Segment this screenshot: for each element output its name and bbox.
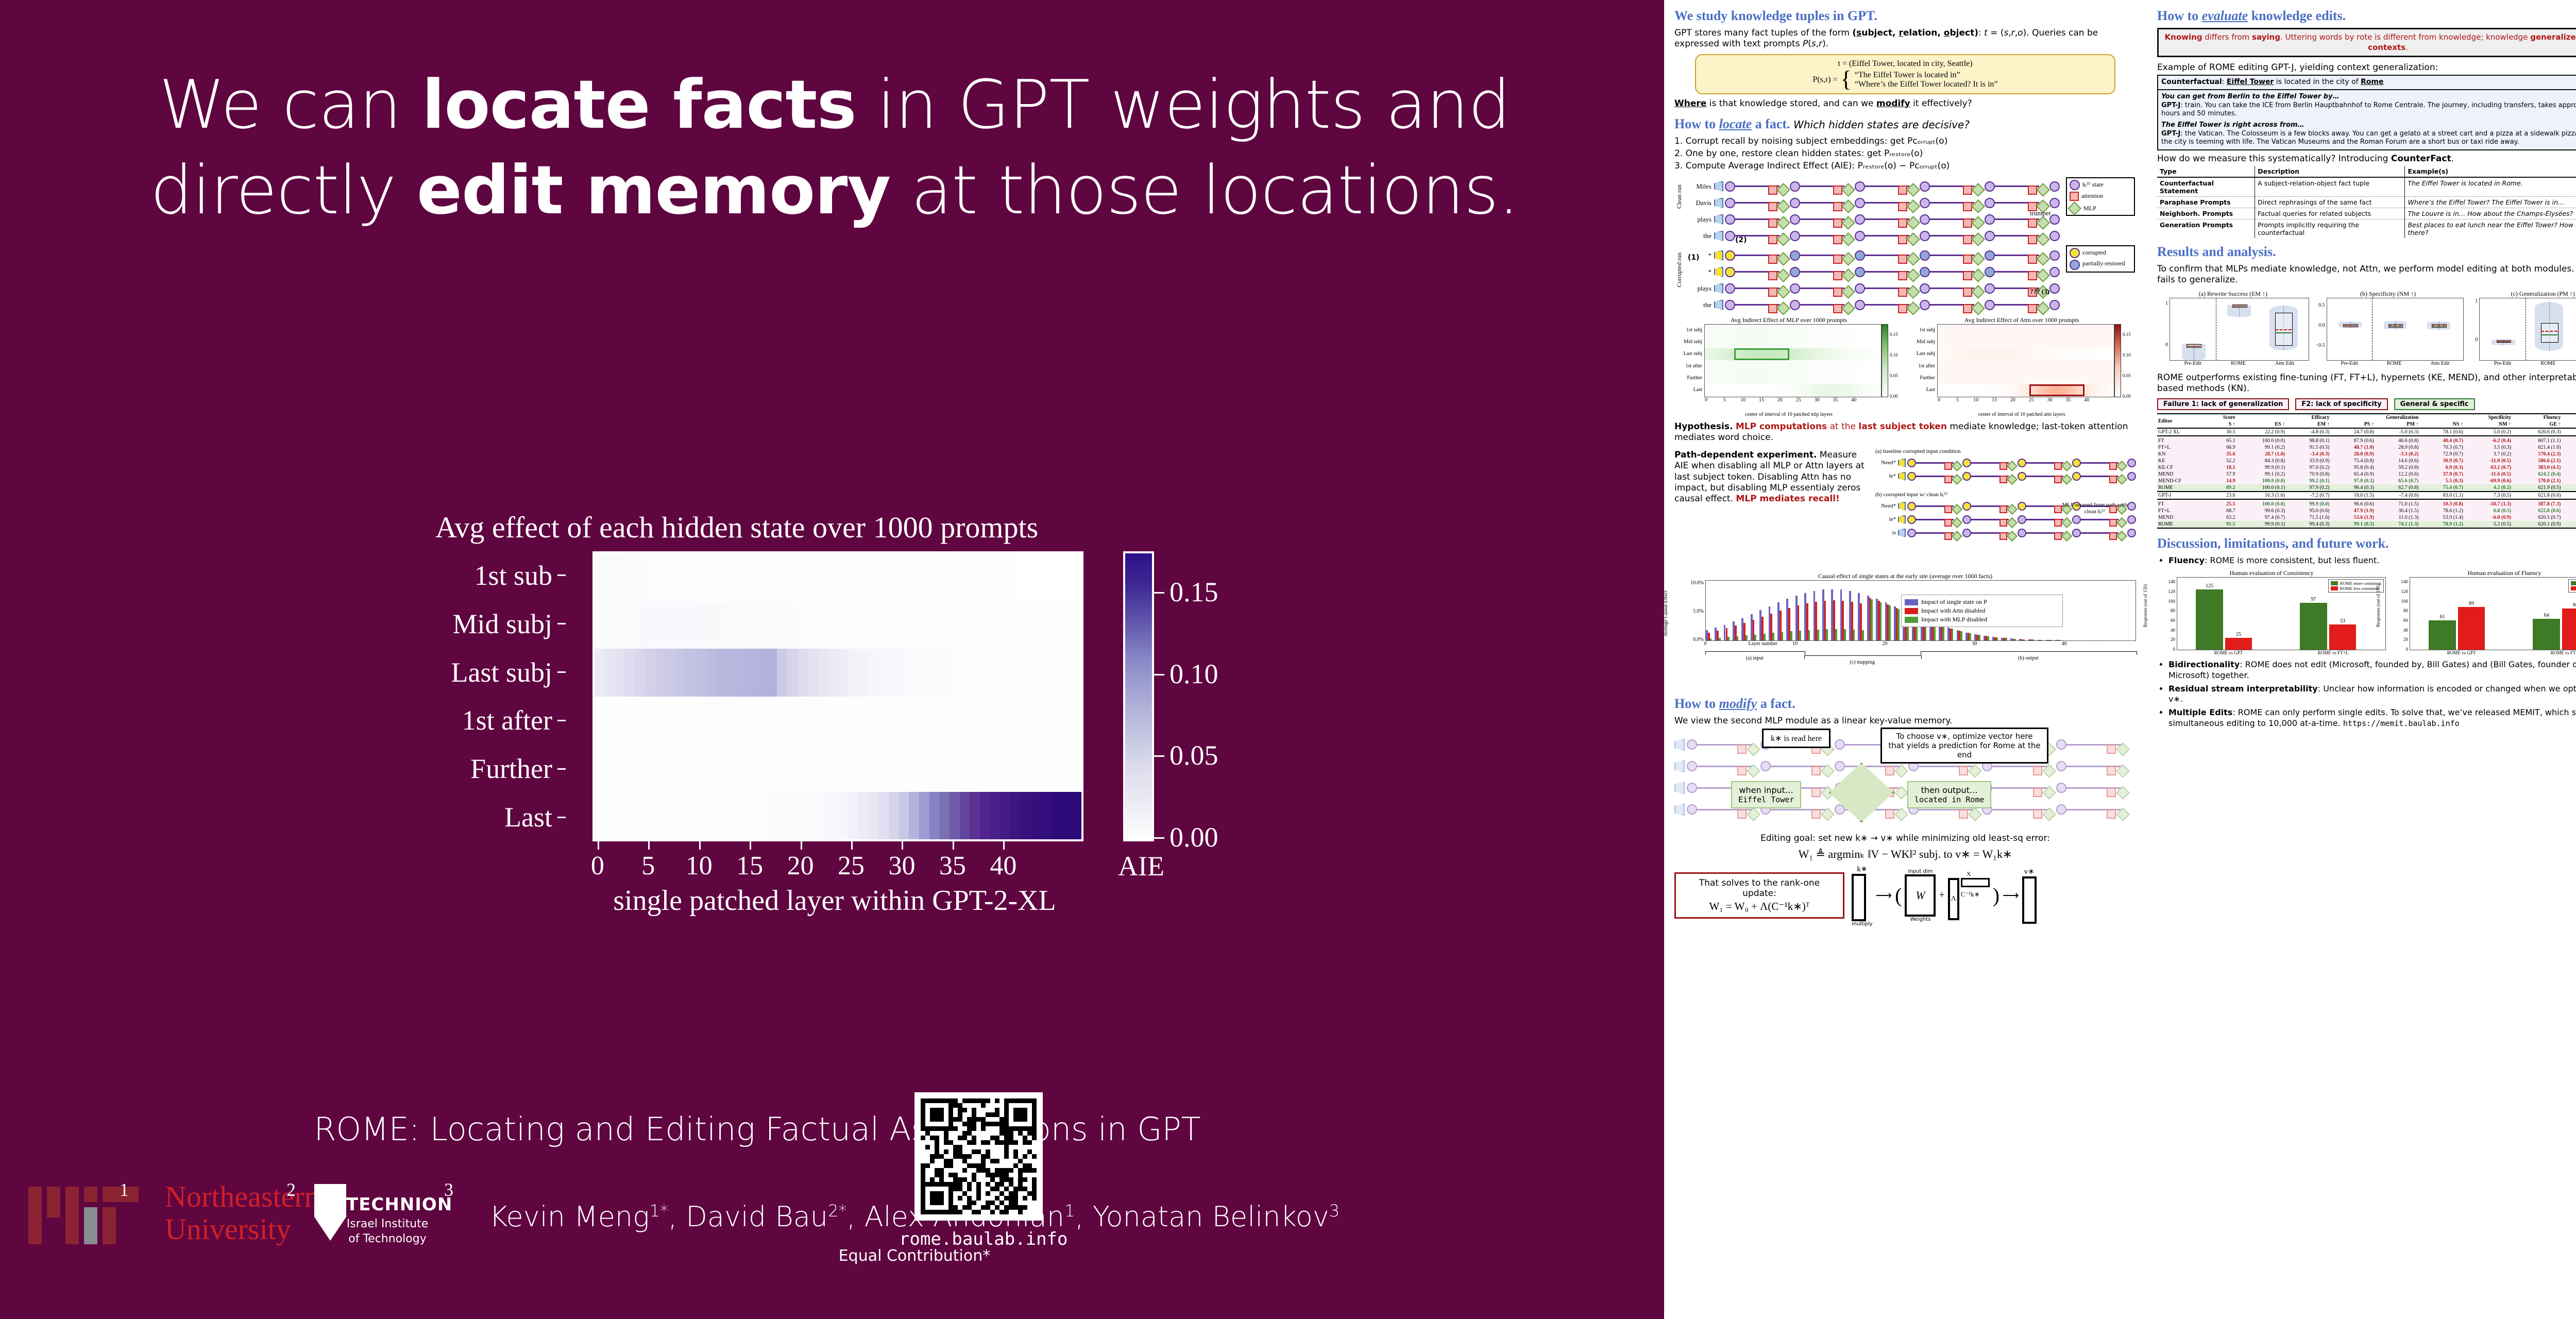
x-tick-label: 25 — [838, 851, 865, 881]
causal-bar — [1754, 635, 1756, 640]
bar-y-label: 120 — [2401, 589, 2409, 594]
mean-line — [2275, 329, 2292, 330]
causal-bar — [1952, 629, 1954, 640]
then-output-box: then output… located in Rome — [1907, 781, 1991, 808]
mini-y-label: Mid subj — [1674, 336, 1704, 348]
heatmap-row — [595, 744, 1081, 792]
bar — [2300, 603, 2327, 650]
prompt-case-2: “Where’s the Eiffel Tower located? It is… — [1855, 80, 1998, 89]
hidden-state-node — [1855, 300, 1865, 310]
bullet-multiple-edits: Multiple Edits: ROME can only perform si… — [2168, 707, 2576, 729]
ce-x-label: 30 — [1972, 641, 1977, 647]
qa-answer-1: GPT-J: the Vatican. The Colosseum is a f… — [2161, 130, 2576, 147]
ct-header-2: Example(s) — [2405, 166, 2576, 177]
hidden-state-node — [1725, 198, 1735, 208]
mini-y-label: Mid subj — [1907, 336, 1937, 348]
ct-header-0: Type — [2157, 166, 2255, 177]
mini-x-label: 15 — [1992, 397, 1997, 403]
author-1: David Bau2* — [686, 1200, 846, 1233]
section-heading-locate: How to locate a fact. Which hidden state… — [1674, 116, 2136, 132]
res-h-editor: Editor — [2157, 414, 2208, 428]
clean-run-label: Clean run — [1675, 184, 1683, 209]
causal-bar — [1826, 629, 1828, 640]
table-row: ROME91.599.9 (0.1)99.4 (0.3)99.1 (0.3)74… — [2157, 521, 2576, 528]
causal-bar — [1817, 630, 1819, 640]
bp-x-label: Pre-Edit — [2184, 361, 2201, 366]
poster-slide-composite: We can locate facts in GPT weights and d… — [0, 0, 2576, 1319]
memit-link[interactable]: https://memit.baulab.info — [2343, 719, 2460, 728]
trace-token-row: the — [1684, 297, 2060, 313]
flag-generalization: Failure 1: lack of generalization — [2157, 398, 2289, 410]
causal-bar — [2023, 639, 2025, 640]
mini-cbar-label: 0.00 — [2123, 394, 2131, 399]
qa-prompt-1: The Eiffel Tower is right across from… — [2161, 121, 2576, 130]
hidden-state-node — [1725, 283, 1735, 294]
causal-bar — [1978, 635, 1980, 640]
key-value-memory-diagram: k∗ is read here To choose v∗, optimize v… — [1674, 729, 2136, 832]
callout-v-star: To choose v∗, optimize vector here that … — [1880, 728, 2048, 764]
bar-y-label: 140 — [2401, 579, 2409, 584]
ct-type: Generation Prompts — [2157, 219, 2255, 239]
hypothesis-paragraph: Hypothesis. MLP computations at the last… — [1674, 421, 2136, 444]
trace-marker-1: (1) — [1688, 253, 1700, 262]
ce-y-label: 10.0% — [1690, 580, 1704, 586]
attn-chart-ylabels: 1st subjMid subjLast subj1st afterFurthe… — [1907, 324, 1937, 405]
aie-module-charts: Avg Indirect Effect of MLP over 1000 pro… — [1674, 316, 2136, 417]
bullet-bidirectionality: Bidirectionality: ROME does not edit (Mi… — [2168, 659, 2576, 681]
trace-legend-top: hᵢ⁽ˡ⁾ state attention MLP — [2066, 177, 2135, 216]
mini-x-label: 20 — [2010, 397, 2015, 403]
embedding-icon — [1714, 231, 1723, 241]
bp-x-label: Attn Edit — [2430, 361, 2449, 366]
causal-bar — [2086, 640, 2088, 641]
bar-y-label: 80 — [2171, 608, 2175, 613]
when-input-box: when input… Eiffel Tower — [1731, 781, 1801, 808]
flag-specificity: F2: lack of specificity — [2295, 398, 2387, 410]
median-line — [2275, 332, 2292, 333]
path-dep-body: Path-dependent experiment. Measure AIE w… — [1674, 450, 1870, 504]
locate-step-3: 3. Compute Average Indirect Effect (AIE)… — [1674, 161, 2136, 172]
bp-x-label: ROME — [2387, 361, 2402, 366]
mean-line — [2343, 325, 2357, 326]
hidden-state-node — [1790, 231, 1800, 241]
chart-x-axis-title: single patched layer within GPT-2-XL — [412, 884, 1257, 917]
bar-value-label: 25 — [2236, 632, 2241, 637]
hidden-state-node — [1790, 283, 1800, 294]
causal-chart-legend: Impact of single state on PImpact with A… — [1901, 595, 2063, 627]
trace-token-label: * — [1684, 268, 1714, 276]
box-plot-row: (a) Rewrite Success (EM ↑) 10 Pre-EditRO… — [2157, 290, 2576, 366]
mini-x-label: 0 — [1705, 397, 1707, 403]
bp-y-label: 0.0 — [2318, 323, 2325, 328]
boxplot-rewrite-success: (a) Rewrite Success (EM ↑) 10 Pre-EditRO… — [2157, 290, 2309, 366]
bar-y-label: 80 — [2403, 608, 2408, 613]
median-line — [2541, 334, 2557, 335]
table-row: Counterfactual StatementA subject-relati… — [2157, 177, 2576, 197]
chart-title: Avg effect of each hidden state over 100… — [299, 510, 1175, 545]
ct-type: Paraphase Prompts — [2157, 197, 2255, 208]
box-plot-box — [2541, 323, 2558, 343]
table-row: ROME89.2100.0 (0.1)97.9 (0.2)96.4 (0.3)6… — [2157, 484, 2576, 492]
title-slide: We can locate facts in GPT weights and d… — [0, 0, 1664, 1319]
bar-value-label: 53 — [2340, 618, 2345, 624]
res-g-fluency: Fluency — [2512, 414, 2562, 421]
y-tick-label: 1st after — [309, 696, 577, 745]
trace-token-label: Davis — [1684, 199, 1714, 207]
mean-line — [2541, 331, 2557, 332]
y-tick-label: Further — [309, 745, 577, 793]
trace-output-corrupt: ??? (3) — [2030, 288, 2049, 296]
res-sub-5: NS ↑ — [2419, 421, 2464, 428]
matrix-diagram: k∗ multiply ⟶ ( Input dim W Weights + X — [1852, 864, 2037, 927]
embedding-icon — [1898, 515, 1906, 524]
causal-bar — [1772, 633, 1774, 640]
mini-x-label: 15 — [1759, 397, 1764, 403]
counterfactual-example-box: Counterfactual: Eiffel Tower is located … — [2157, 75, 2576, 150]
mini-x-label: 35 — [1833, 397, 1838, 403]
ct-header-1: Description — [2255, 166, 2405, 177]
heatmap-row — [595, 649, 1081, 697]
table-row: FT25.5100.0 (0.0)99.9 (0.0)96.6 (0.6)71.… — [2157, 501, 2576, 508]
causal-bar — [1862, 630, 1864, 640]
affiliation-sup-3: 3 — [444, 1179, 453, 1200]
chart-x-axis-ticks: 0510152025303540 — [592, 841, 1079, 877]
mini-x-label: 30 — [1815, 397, 1820, 403]
mean-line — [2232, 306, 2246, 307]
causal-bar — [1960, 631, 1962, 640]
table-row: MEND57.999.1 (0.2)70.9 (0.8)65.4 (0.9)12… — [2157, 471, 2576, 478]
res-sub-3: PS ↑ — [2331, 421, 2375, 428]
bp-y-label: 0 — [2165, 342, 2168, 348]
counterfactual-body: You can get from Berlin to the Eiffel To… — [2158, 90, 2576, 149]
causal-bar — [2122, 640, 2124, 641]
locate-step-2: 2. One by one, restore clean hidden stat… — [1674, 148, 2136, 159]
bp-x-label: ROME — [2231, 361, 2246, 366]
qr-code[interactable] — [914, 1092, 1043, 1221]
ce-bracket-label: (c) mapping — [1850, 659, 1875, 665]
mini-cbar-label: 0.00 — [1890, 394, 1898, 399]
x-tick-label: 0 — [591, 851, 604, 881]
path-diagram-row: is — [1875, 526, 2136, 539]
mini-y-label: Further — [1674, 372, 1704, 384]
causal-bar — [2130, 640, 2132, 641]
hidden-state-node — [1790, 198, 1800, 208]
hidden-state-node — [1855, 214, 1865, 225]
bar-x-label: ROME vs FT+L — [2318, 650, 2349, 655]
prompt-fn-label: P(s,r) = — [1813, 75, 1838, 84]
bar-value-label: 89 — [2469, 601, 2474, 606]
res-sub-1: ES ↑ — [2236, 421, 2286, 428]
causal-bar — [1996, 637, 1998, 640]
bp-x-label: Pre-Edit — [2494, 361, 2511, 366]
trace-corrupt-rows: **playsthe — [1684, 247, 2060, 313]
table-row-base: GPT-2 XL30.522.2 (0.9)-4.8 (0.3)24.7 (0.… — [2157, 428, 2576, 436]
hidden-state-node — [1855, 181, 1865, 192]
causal-bar — [1782, 632, 1784, 640]
res-sub-7: GE ↑ — [2512, 421, 2562, 428]
hidden-state-node — [1985, 283, 1995, 294]
table-row: FT65.1100.0 (0.0)98.8 (0.1)87.9 (0.6)46.… — [2157, 437, 2576, 444]
ce-x-label: 20 — [1882, 641, 1887, 647]
colorbar-tick-label: 0.10 — [1170, 658, 1218, 690]
bar-x-label: ROME vs GPT — [2447, 650, 2476, 655]
bar-y-label: 20 — [2403, 637, 2408, 642]
x-tick-label: 5 — [641, 851, 655, 881]
hidden-state-node — [1985, 250, 1995, 261]
y-tick-label: Last subj — [309, 648, 577, 697]
table-row: Paraphase PromptsDirect rephrasings of t… — [2157, 197, 2576, 208]
technion-name: TECHNION — [346, 1194, 452, 1215]
sec1-question: Where is that knowledge stored, and can … — [1674, 98, 2136, 109]
mlp-aie-chart: Avg Indirect Effect of MLP over 1000 pro… — [1674, 316, 1903, 417]
ce-bracket-label: (b) output — [2018, 655, 2039, 661]
causal-bar — [2050, 640, 2052, 640]
hidden-state-node — [1725, 181, 1735, 192]
diagram-caption-a: (a) baseline corrupted input condition — [1875, 448, 2136, 454]
ce-y-label: 5.0% — [1693, 608, 1704, 614]
embedding-icon — [1714, 181, 1723, 192]
causal-bar — [1987, 636, 1989, 640]
causal-bar — [2112, 640, 2114, 641]
hidden-state-node — [1920, 181, 1930, 192]
trace-token-label: the — [1684, 301, 1714, 309]
table-row: KN35.628.7 (1.0)-3.4 (0.3)28.0 (0.9)-3.3… — [2157, 451, 2576, 458]
bar-y-label: 0 — [2406, 647, 2409, 652]
mini-y-label: 1st after — [1674, 360, 1704, 371]
trace-marker-2: (2) — [1735, 236, 1747, 244]
colorbar — [1123, 551, 1154, 841]
hidden-state-node — [1725, 250, 1735, 261]
mini-y-label: Last — [1674, 384, 1704, 396]
ce-bracket-label: (a) input — [1746, 655, 1764, 661]
causal-bar — [1844, 629, 1846, 640]
bullet-residual-stream: Residual stream interpretability: Unclea… — [2168, 684, 2576, 705]
heatmap-highlight-box — [1734, 348, 1789, 360]
trace-legend-bottom: corrupted partially-restored — [2066, 245, 2135, 273]
ce-legend-item: Impact with MLP disabled — [1905, 616, 2059, 623]
ct-desc: Direct rephrasings of the same fact — [2255, 197, 2405, 208]
embedding-icon — [1714, 250, 1723, 261]
trace-token-row: plays — [1684, 211, 2060, 228]
causal-bar — [1871, 599, 1873, 640]
bar — [2225, 638, 2252, 650]
table-row-base: GPT-J23.616.3 (1.6)-7.2 (0.7)18.6 (1.5)-… — [2157, 492, 2576, 499]
results-table: EditorScoreEfficacyGeneralizationSpecifi… — [2157, 413, 2576, 530]
causal-bar — [1853, 630, 1855, 640]
northeastern-logo: Northeastern University — [165, 1181, 319, 1245]
embedding-icon — [1714, 214, 1723, 225]
tuple-example-box: t = (Eiffel Tower, located in city, Seat… — [1695, 54, 2115, 94]
res-sub-6: NM ↑ — [2464, 421, 2512, 428]
rank-one-box: That solves to the rank-one update: W₁ =… — [1674, 872, 1844, 919]
mini-x-label: 30 — [2047, 397, 2053, 403]
mini-x-label: 10 — [1740, 397, 1745, 403]
bar — [2329, 624, 2357, 650]
path-dep-diagram: (a) baseline corrupted input condition N… — [1875, 448, 2136, 569]
path-diagram-row: Need* — [1875, 456, 2136, 469]
results-table-intro: ROME outperforms existing fine-tuning (F… — [2157, 373, 2576, 395]
table-row: Generation PromptsPrompts implicitly req… — [2157, 219, 2576, 239]
trace-token-row: plays — [1684, 280, 2060, 297]
trace-token-label: plays — [1684, 215, 1714, 224]
hidden-state-node — [1855, 267, 1865, 277]
hidden-state-node — [1985, 181, 1995, 192]
diagram-note: MLP severed from path with clean hᵢ⁽ˡ⁾ — [2059, 502, 2131, 515]
mini-x-label: 40 — [2084, 397, 2089, 403]
section-heading-evaluate: How to evaluate knowledge edits. — [2157, 8, 2576, 24]
x-tick-label: 10 — [686, 851, 713, 881]
hidden-state-node — [1790, 267, 1800, 277]
bar — [2562, 608, 2576, 650]
boxplot-specificity: (b) Specificity (NM ↑) 0.50.0−0.5 Pre-Ed… — [2312, 290, 2464, 366]
bar-x-label: ROME vs GPT — [2214, 650, 2243, 655]
x-tick-label: 20 — [787, 851, 814, 881]
hidden-state-node — [1790, 250, 1800, 261]
causal-bar — [2014, 639, 2016, 640]
causal-bar — [1719, 638, 1721, 640]
discussion-bullets: Fluency: ROME is more consistent, but le… — [2157, 555, 2576, 566]
hidden-state-node — [1920, 300, 1930, 310]
heatmap-row — [595, 601, 1081, 649]
technion-logo: TECHNION Israel Institute of Technology — [309, 1180, 459, 1273]
bar — [2196, 589, 2223, 650]
mean-line — [2497, 341, 2511, 342]
colorbar-tick-label: 0.00 — [1170, 821, 1218, 853]
bar-y-label: 100 — [2168, 599, 2176, 604]
colorbar-tick-label: 0.15 — [1170, 576, 1218, 608]
mini-y-label: 1st subj — [1907, 324, 1937, 336]
counterfactual-header: Counterfactual: Eiffel Tower is located … — [2158, 76, 2576, 90]
hidden-state-node — [1725, 214, 1735, 225]
chart-y-axis-labels: 1st subMid subjLast subj1st afterFurther… — [309, 551, 577, 841]
res-sub-4: PM ↑ — [2375, 421, 2419, 428]
hidden-state-node — [1920, 267, 1930, 277]
trace-token-label: the — [1684, 232, 1714, 240]
modify-intro: We view the second MLP module as a linea… — [1674, 716, 2136, 726]
section-heading-results: Results and analysis. — [2157, 244, 2576, 260]
embedding-icon — [1898, 472, 1906, 481]
causal-bar — [2095, 640, 2097, 641]
table-row: KE52.284.3 (0.8)33.9 (0.9)75.4 (0.8)14.6… — [2157, 458, 2576, 464]
x-tick-label: 35 — [939, 851, 966, 881]
mlp-chart-ylabels: 1st subjMid subjLast subj1st afterFurthe… — [1674, 324, 1704, 405]
mini-x-label: 25 — [2029, 397, 2034, 403]
bar-y-label: 60 — [2403, 618, 2408, 623]
affiliation-sup-2: 2 — [286, 1179, 296, 1200]
res-sub-2: EM ↑ — [2286, 421, 2330, 428]
bar-x-label: ROME vs FT+L — [2551, 650, 2576, 655]
path-dependent-section: Path-dependent experiment. Measure AIE w… — [1674, 448, 2136, 569]
hidden-state-node — [1855, 198, 1865, 208]
table-row: KE-CF18.199.9 (0.1)97.0 (0.2)95.8 (0.4)5… — [2157, 464, 2576, 471]
ct-desc: A subject-relation-object fact tuple — [2255, 177, 2405, 197]
heatmap-plot-area — [592, 551, 1083, 841]
equal-contribution-note: Equal Contribution* — [361, 1247, 1468, 1265]
discussion-bullets-2: Bidirectionality: ROME does not edit (Mi… — [2157, 659, 2576, 729]
ct-example: The Louvre is in… How about the Champs-É… — [2405, 208, 2576, 219]
tuple-line: t = (Eiffel Tower, located in city, Seat… — [1702, 59, 2108, 69]
locate-step-1: 1. Corrupt recall by noising subject emb… — [1674, 136, 2136, 147]
hidden-state-node — [1985, 300, 1995, 310]
bar-value-label: 125 — [2206, 583, 2213, 589]
section-heading-study: We study knowledge tuples in GPT. — [1674, 8, 2136, 24]
mlp-icon — [2067, 201, 2081, 215]
res-g-score: Score — [2208, 414, 2236, 421]
embedding-icon — [1714, 283, 1723, 294]
mini-cbar-label: 0.05 — [2123, 373, 2131, 378]
causal-effect-chart: Causal effect of single states at the ea… — [1674, 572, 2136, 695]
trace-token-row: * — [1684, 247, 2060, 264]
rank-one-update-row: That solves to the rank-one update: W₁ =… — [1674, 864, 2136, 927]
path-diagram-row: le* — [1875, 469, 2136, 483]
hidden-state-node — [1920, 214, 1930, 225]
embedding-icon — [1714, 267, 1723, 277]
hidden-state-node — [1920, 283, 1930, 294]
causal-bar — [1969, 633, 1971, 640]
bp-y-label: −0.5 — [2316, 343, 2325, 348]
bar-y-label: 100 — [2401, 599, 2409, 604]
results-intro: To confirm that MLPs mediate knowledge, … — [2157, 264, 2576, 286]
res-g-specificity: Specificity — [2419, 414, 2512, 421]
causal-bar — [1835, 629, 1837, 640]
hidden-state-node — [1855, 250, 1865, 261]
mini-x-label: 5 — [1723, 397, 1726, 403]
chart-legend: ROME more fluentROME less fluent — [2568, 579, 2576, 593]
causal-bar — [1745, 635, 1748, 640]
aie-heatmap-figure: Avg effect of each hidden state over 100… — [247, 510, 1226, 1087]
hidden-state-node — [1920, 231, 1930, 241]
slide-headline: We can locate facts in GPT weights and d… — [46, 62, 1623, 233]
causal-bar — [2005, 638, 2007, 640]
bp-x-label: Pre-Edit — [2341, 361, 2358, 366]
ce-x-label: 10 — [1792, 641, 1798, 647]
ct-type: Counterfactual Statement — [2157, 177, 2255, 197]
trace-token-row: Davis — [1684, 195, 2060, 211]
bar-y-label: 120 — [2168, 589, 2176, 594]
trace-token-row: * — [1684, 264, 2060, 280]
mini-x-label: 40 — [1851, 397, 1856, 403]
bar — [2458, 607, 2485, 650]
y-tick-label: Mid subj — [309, 600, 577, 648]
bp-y-label: 0 — [2475, 337, 2478, 343]
qr-caption: rome.baulab.info — [899, 1229, 1048, 1249]
bar-y-label: 40 — [2403, 628, 2408, 633]
y-tick-label: 1st sub — [309, 551, 577, 600]
causal-bar — [1808, 630, 1810, 640]
poster-panel: We study knowledge tuples in GPT. GPT st… — [1664, 0, 2576, 1319]
res-g-consistency: Consistency — [2562, 414, 2576, 421]
mini-cbar-label: 0.10 — [1890, 352, 1898, 358]
table-row: FT+L68.799.6 (0.3)95.0 (0.6)47.9 (1.9)30… — [2157, 508, 2576, 514]
mini-y-label: Last — [1907, 384, 1937, 396]
colorbar-tick-label: 0.05 — [1170, 739, 1218, 771]
bar-y-label: 0 — [2173, 647, 2176, 652]
bar-value-label: 64 — [2544, 613, 2549, 618]
embedding-icon — [1898, 459, 1906, 467]
hidden-state-icon — [2070, 180, 2080, 190]
human-eval-charts: Human evaluation of Consistency Response… — [2157, 569, 2576, 655]
trace-token-label: plays — [1684, 284, 1714, 293]
causal-bar — [2041, 640, 2043, 640]
consistency-bar-chart: Human evaluation of Consistency Response… — [2157, 569, 2386, 655]
colorbar-label: AIE — [1118, 850, 1164, 882]
causal-bar — [2059, 640, 2061, 640]
partially-restored-icon — [2070, 260, 2080, 270]
hidden-state-node — [1985, 214, 1995, 225]
mean-line — [2388, 325, 2402, 326]
hidden-state-node — [1920, 250, 1930, 261]
attn-aie-chart: Avg Indirect Effect of Attn over 1000 pr… — [1907, 316, 2136, 417]
